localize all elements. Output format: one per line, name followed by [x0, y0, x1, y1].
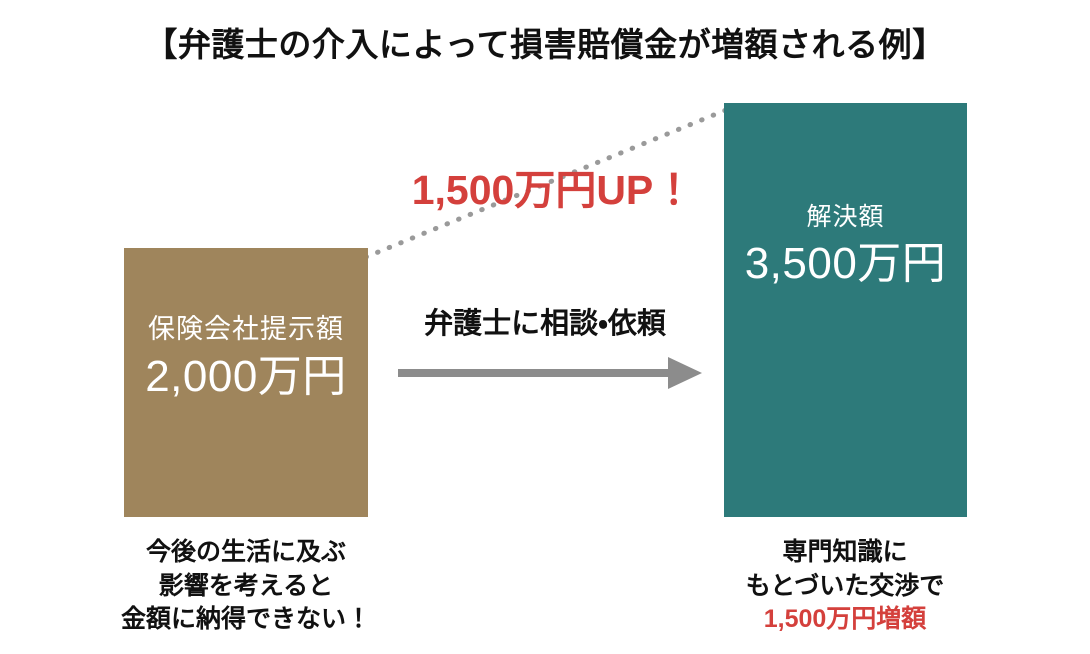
bar-settlement-amount-label: 解決額	[724, 203, 967, 232]
bar-settlement-amount: 解決額 3,500万円	[724, 103, 967, 517]
bar-insurance-offer: 保険会社提示額 2,000万円	[124, 248, 368, 517]
consult-lawyer-label: 弁護士に相談・依頼	[380, 300, 710, 342]
bar-insurance-offer-amount: 2,000万円	[124, 351, 368, 403]
infographic-canvas: 【弁護士の介入によって損害賠償金が増額される例】 1,500万円UP！ 弁護士に…	[0, 0, 1090, 654]
bar-settlement-amount-value: 3,500万円	[724, 238, 967, 290]
page-title: 【弁護士の介入によって損害賠償金が増額される例】	[0, 18, 1090, 66]
bar-insurance-offer-label: 保険会社提示額	[124, 314, 368, 345]
bar-settlement-amount-text: 解決額 3,500万円	[724, 203, 967, 290]
caption-before-line-1: 今後の生活に及ぶ	[96, 536, 396, 570]
right-arrow-icon	[396, 355, 706, 391]
caption-before-line-2: 影響を考えると	[96, 570, 396, 604]
caption-before: 今後の生活に及ぶ 影響を考えると 金額に納得できない！	[96, 536, 396, 637]
increase-callout: 1,500万円UP！	[398, 156, 708, 216]
caption-after-line-3: 1,500万円増額	[700, 603, 990, 637]
caption-after-line-1: 専門知識に	[700, 536, 990, 570]
bar-insurance-offer-text: 保険会社提示額 2,000万円	[124, 314, 368, 403]
caption-before-line-3: 金額に納得できない！	[96, 603, 396, 637]
caption-after: 専門知識に もとづいた交渉で 1,500万円増額	[700, 536, 990, 637]
caption-after-line-2: もとづいた交渉で	[700, 570, 990, 604]
